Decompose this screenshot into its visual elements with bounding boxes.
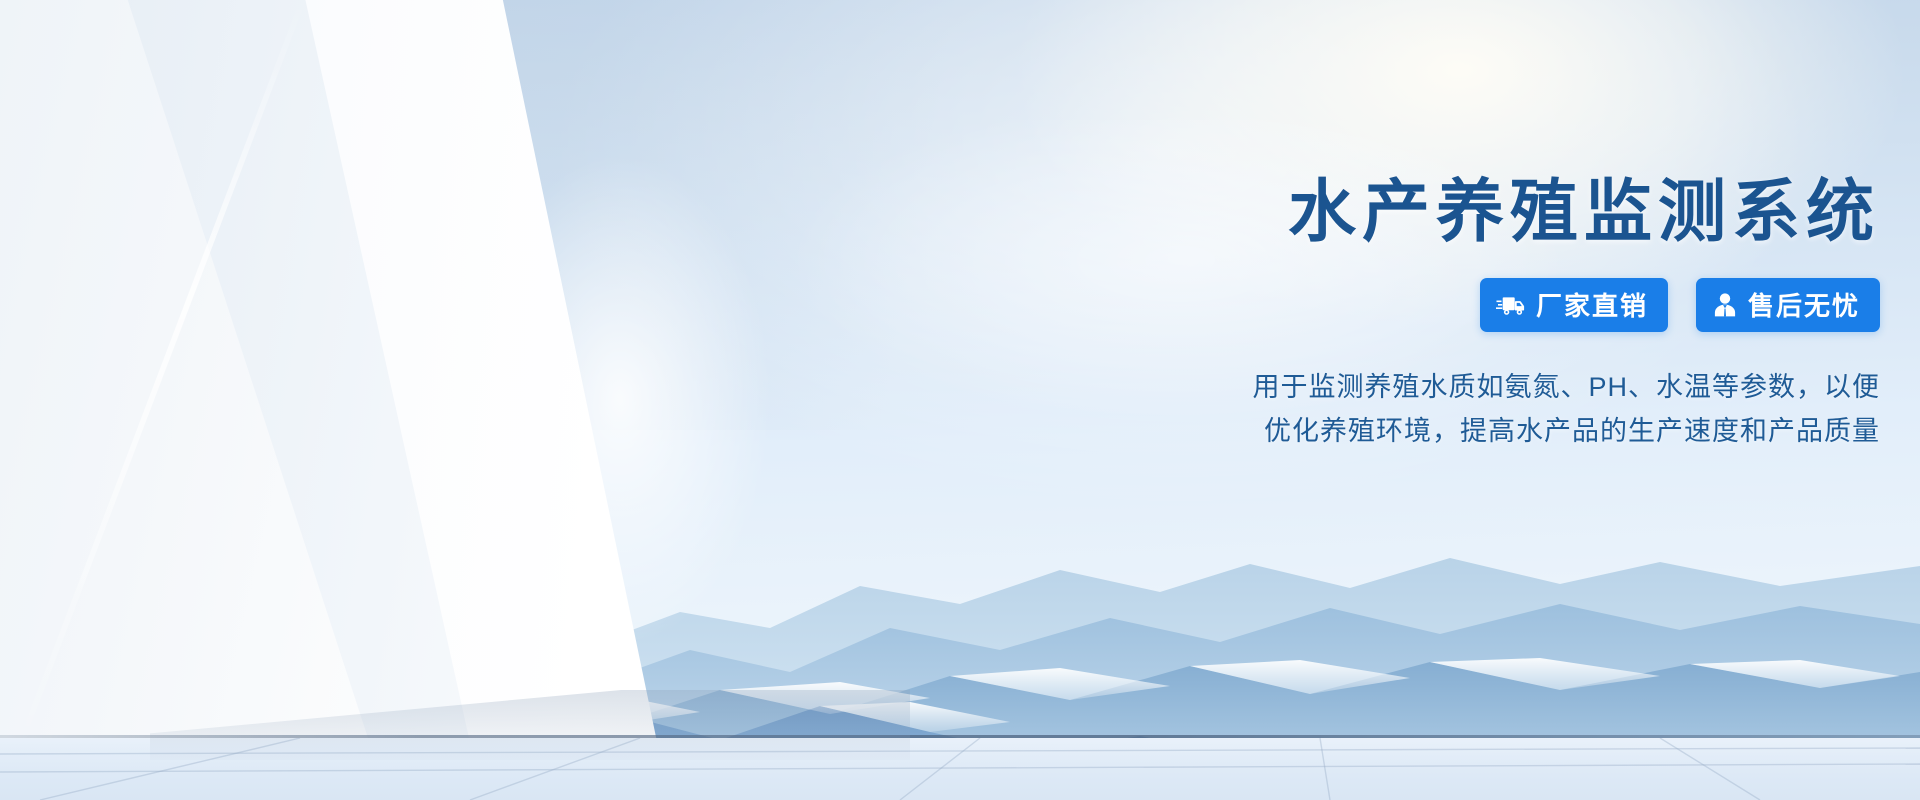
hero-banner: 水产养殖监测系统 厂家直销	[0, 0, 1920, 800]
description-line-2: 优化养殖环境，提高水产品的生产速度和产品质量	[1060, 410, 1880, 454]
badge-factory-direct[interactable]: 厂家直销	[1480, 278, 1668, 332]
truck-icon	[1496, 293, 1526, 317]
user-support-icon	[1712, 292, 1738, 318]
badge-after-sales[interactable]: 售后无忧	[1696, 278, 1880, 332]
badge-label: 售后无忧	[1748, 286, 1860, 323]
page-title: 水产养殖监测系统	[1060, 176, 1880, 248]
description-line-1: 用于监测养殖水质如氨氮、PH、水温等参数，以便	[1060, 366, 1880, 410]
plaza-tile-lines	[0, 738, 1920, 800]
banner-content: 水产养殖监测系统 厂家直销	[1060, 176, 1880, 454]
badge-label: 厂家直销	[1536, 286, 1648, 323]
banner-description: 用于监测养殖水质如氨氮、PH、水温等参数，以便 优化养殖环境，提高水产品的生产速…	[1060, 366, 1880, 453]
plaza-floor	[0, 738, 1920, 800]
badge-group: 厂家直销 售后无忧	[1060, 278, 1880, 332]
